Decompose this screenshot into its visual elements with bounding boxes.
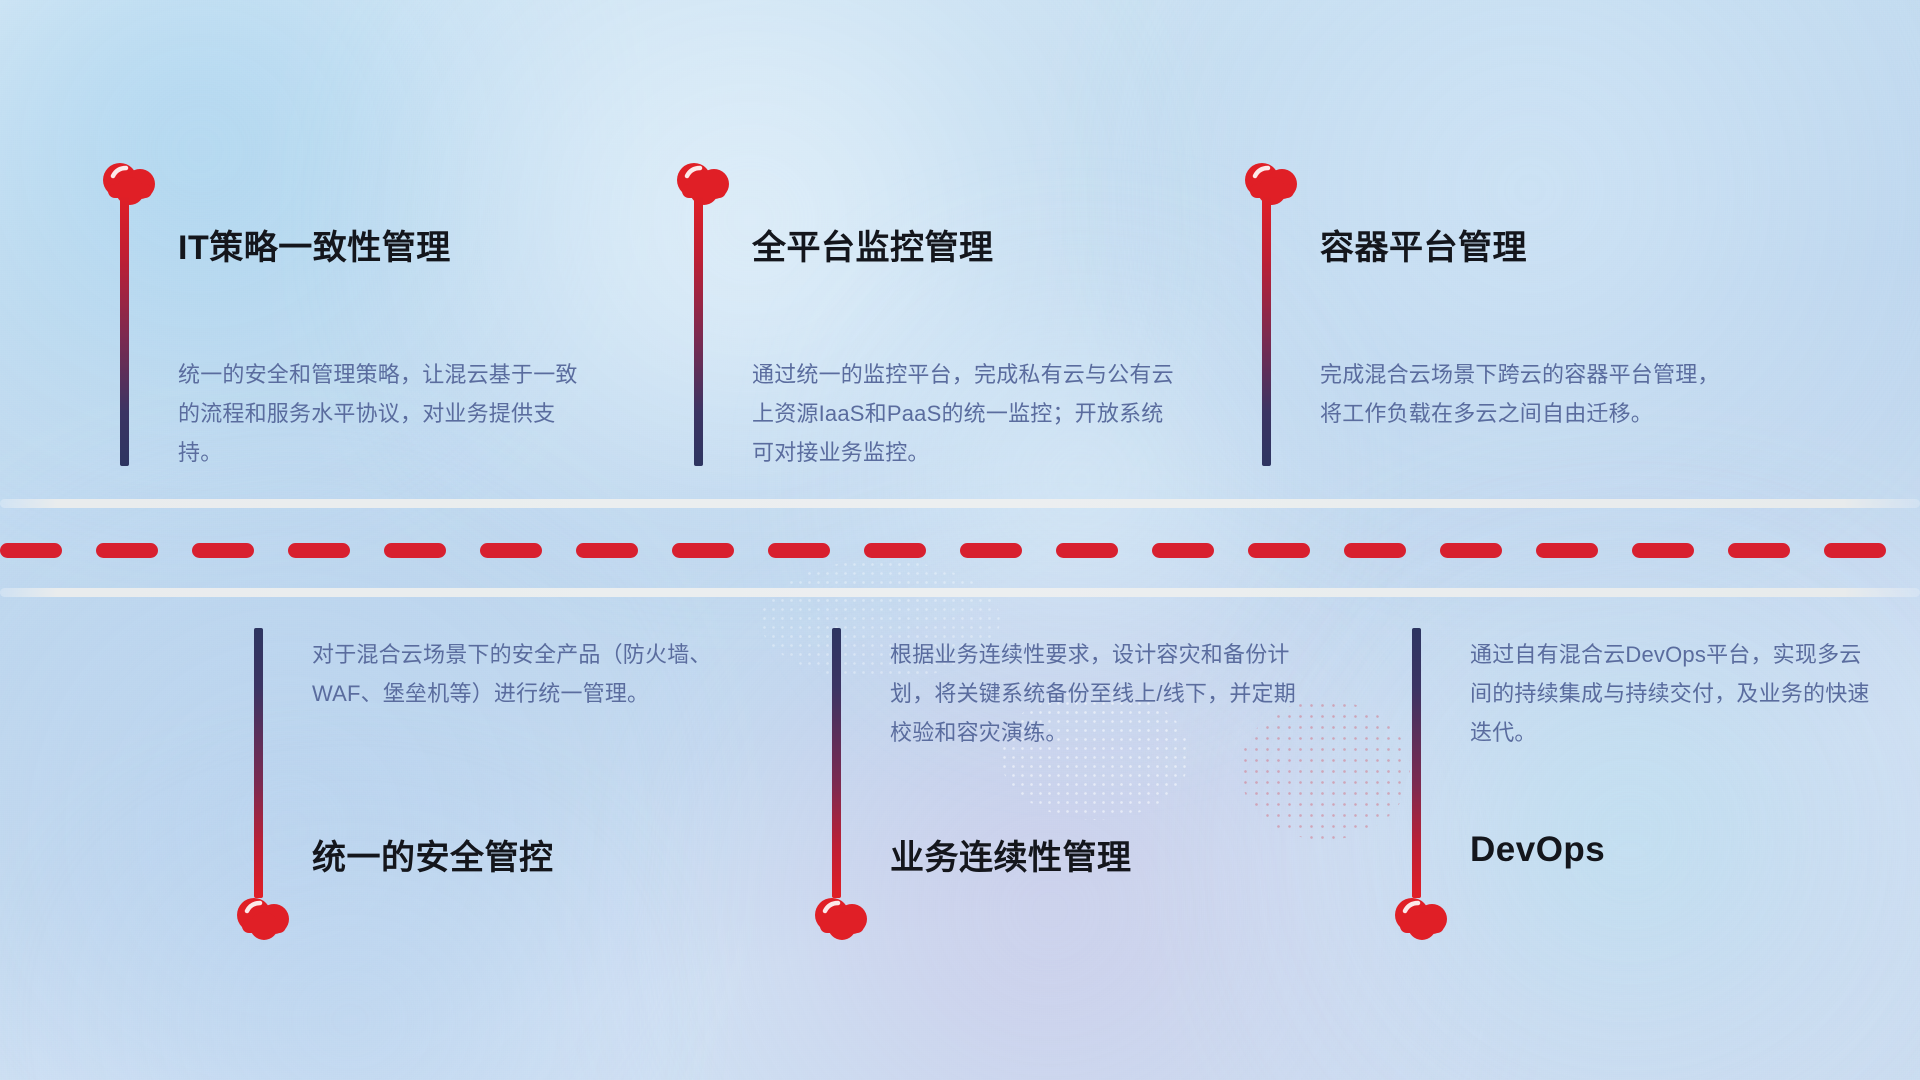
connector-stem xyxy=(1262,196,1271,466)
road-edge-line-bottom xyxy=(0,588,1920,597)
infographic-canvas: IT策略一致性管理 统一的安全和管理策略，让混云基于一致的流程和服务水平协议，对… xyxy=(0,0,1920,1080)
road-edge-line-top xyxy=(0,499,1920,508)
card-body: 对于混合云场景下的安全产品（防火墙、WAF、堡垒机等）进行统一管理。 xyxy=(312,635,732,713)
road-dash xyxy=(1728,543,1790,558)
card-body: 完成混合云场景下跨云的容器平台管理，将工作负载在多云之间自由迁移。 xyxy=(1320,355,1740,433)
cloud-icon xyxy=(672,160,734,206)
card-body: 通过统一的监控平台，完成私有云与公有云上资源IaaS和PaaS的统一监控；开放系… xyxy=(752,355,1182,472)
card-title: IT策略一致性管理 xyxy=(178,220,451,269)
card-title: 全平台监控管理 xyxy=(752,220,994,269)
cloud-icon xyxy=(810,895,872,941)
road-dash xyxy=(96,543,158,558)
road-dash xyxy=(1344,543,1406,558)
card-body: 统一的安全和管理策略，让混云基于一致的流程和服务水平协议，对业务提供支持。 xyxy=(178,355,598,472)
road-dashed-centerline xyxy=(0,543,1920,558)
connector-stem xyxy=(120,196,129,466)
road-dash xyxy=(384,543,446,558)
road-dash xyxy=(0,543,62,558)
card-body: 通过自有混合云DevOps平台，实现多云间的持续集成与持续交付，及业务的快速迭代… xyxy=(1470,635,1870,752)
connector-stem xyxy=(832,628,841,898)
cloud-icon xyxy=(1240,160,1302,206)
card-title: DevOps xyxy=(1470,830,1605,870)
card-title: 业务连续性管理 xyxy=(890,830,1132,879)
connector-stem xyxy=(694,196,703,466)
card-title: 统一的安全管控 xyxy=(312,830,554,879)
road-dash xyxy=(864,543,926,558)
road-dash xyxy=(960,543,1022,558)
road-dash xyxy=(1152,543,1214,558)
road-dash xyxy=(1440,543,1502,558)
cloud-icon xyxy=(98,160,160,206)
connector-stem xyxy=(1412,628,1421,898)
road-dash xyxy=(768,543,830,558)
road-dash xyxy=(288,543,350,558)
road-dash xyxy=(1056,543,1118,558)
road-dash xyxy=(1824,543,1886,558)
road-dash xyxy=(1248,543,1310,558)
cloud-icon xyxy=(1390,895,1452,941)
cloud-icon xyxy=(232,895,294,941)
road-dash xyxy=(192,543,254,558)
card-body: 根据业务连续性要求，设计容灾和备份计划，将关键系统备份至线上/线下，并定期校验和… xyxy=(890,635,1310,752)
road-dash xyxy=(576,543,638,558)
connector-stem xyxy=(254,628,263,898)
road-dash xyxy=(672,543,734,558)
road-dash xyxy=(1536,543,1598,558)
road-dash xyxy=(480,543,542,558)
card-title: 容器平台管理 xyxy=(1320,220,1527,269)
road-dash xyxy=(1632,543,1694,558)
